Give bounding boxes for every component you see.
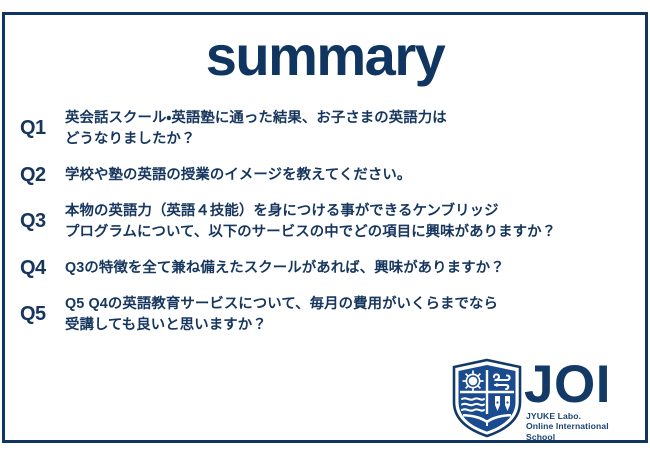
question-row-q1: Q1 英会話スクール・英語塾に通った結果、お子さまの英語力は どうなりましたか？	[0, 108, 650, 150]
question-label-q2: Q2	[20, 165, 65, 186]
question-text-line: 受講しても良いと思いますか？	[65, 315, 636, 336]
question-row-q5: Q5 Q5 Q4の英語教育サービスについて、毎月の費用がいくらまでなら 受講して…	[0, 294, 650, 336]
question-text-line: 学校や塾の英語の授業のイメージを教えてください。	[65, 165, 636, 186]
question-label-q3: Q3	[20, 201, 65, 232]
question-row-q4: Q4 Q3の特徴を全て兼ね備えたスクールがあれば、興味がありますか？	[0, 258, 650, 279]
question-text-q2: 学校や塾の英語の授業のイメージを教えてください。	[65, 165, 636, 186]
joi-logo: JOI JYUKE Labo. Online International Sch…	[450, 358, 640, 440]
joi-tagline: JYUKE Labo. Online International School	[526, 411, 640, 442]
question-text-q3: 本物の英語力（英語４技能）を身につける事ができるケンブリッジ プログラムについて…	[65, 201, 636, 243]
question-list: Q1 英会話スクール・英語塾に通った結果、お子さまの英語力は どうなりましたか？…	[0, 108, 650, 351]
question-text-line: Q3の特徴を全て兼ね備えたスクールがあれば、興味がありますか？	[65, 258, 636, 279]
question-label-q5: Q5	[20, 294, 65, 325]
question-text-line: Q5 Q4の英語教育サービスについて、毎月の費用がいくらまでなら	[65, 294, 636, 315]
page-title: summary	[0, 26, 650, 86]
joi-shield-icon	[450, 358, 524, 438]
question-text-line: 本物の英語力（英語４技能）を身につける事ができるケンブリッジ	[65, 201, 636, 222]
sun-icon	[463, 371, 484, 392]
question-text-q4: Q3の特徴を全て兼ね備えたスクールがあれば、興味がありますか？	[65, 258, 636, 279]
question-text-line: プログラムについて、以下のサービスの中でどの項目に興味がありますか？	[65, 222, 636, 243]
question-text-q5: Q5 Q4の英語教育サービスについて、毎月の費用がいくらまでなら 受講しても良い…	[65, 294, 636, 336]
summary-slide: summary Q1 英会話スクール・英語塾に通った結果、お子さまの英語力は ど…	[0, 0, 650, 454]
question-row-q2: Q2 学校や塾の英語の授業のイメージを教えてください。	[0, 165, 650, 186]
question-text-line: 英会話スクール・英語塾に通った結果、お子さまの英語力は	[65, 108, 636, 129]
question-label-q4: Q4	[20, 258, 65, 279]
question-text-q1: 英会話スクール・英語塾に通った結果、お子さまの英語力は どうなりましたか？	[65, 108, 636, 150]
question-label-q1: Q1	[20, 108, 65, 139]
joi-wordmark: JOI	[524, 357, 611, 413]
joi-tagline-line1: JYUKE Labo.	[526, 411, 640, 421]
question-text-line: どうなりましたか？	[65, 129, 636, 150]
question-row-q3: Q3 本物の英語力（英語４技能）を身につける事ができるケンブリッジ プログラムに…	[0, 201, 650, 243]
joi-tagline-line2: Online International School	[526, 421, 640, 442]
